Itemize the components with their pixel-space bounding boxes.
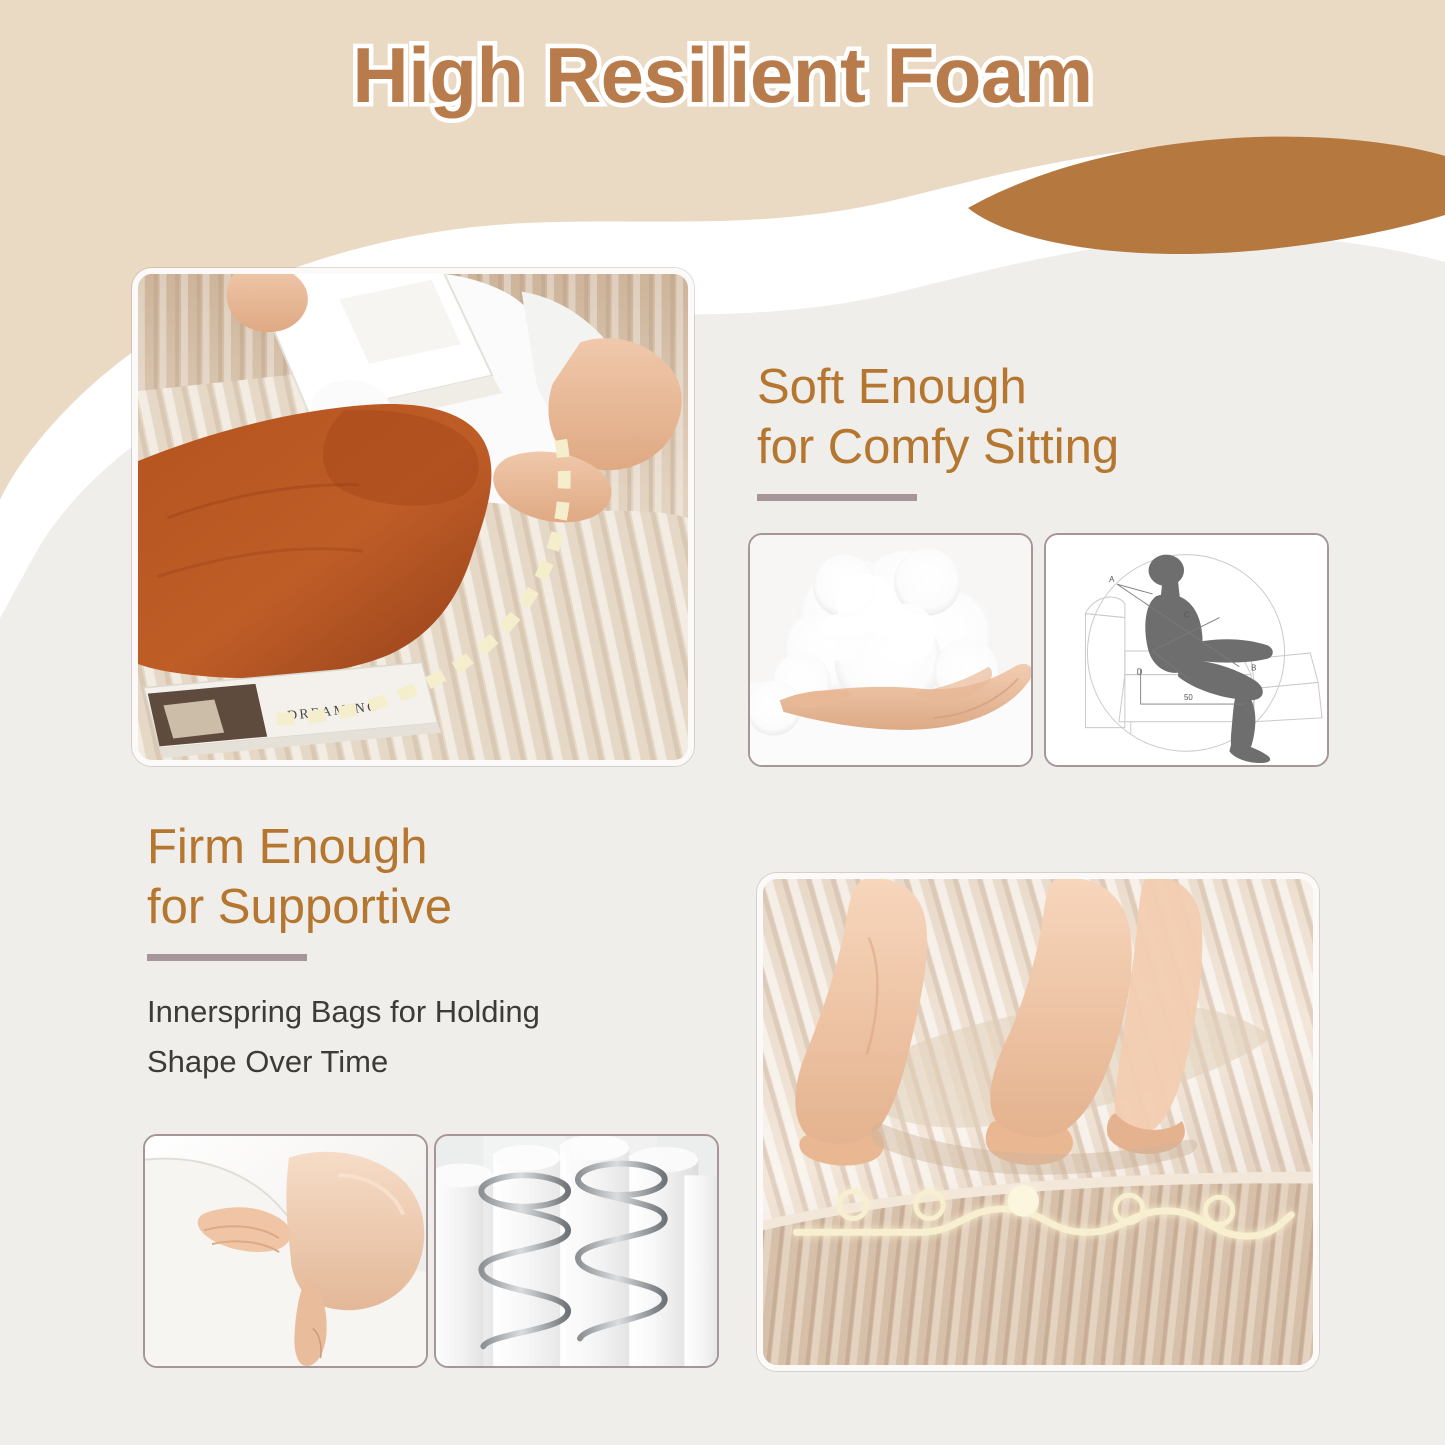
diagram-dimension-value: 50	[1184, 693, 1193, 702]
page-title: High Resilient Foam	[352, 30, 1092, 121]
firm-heading-line1: Firm Enough	[147, 818, 540, 878]
soft-heading-block: Soft Enough for Comfy Sitting	[757, 358, 1119, 501]
firm-heading-rule	[147, 954, 307, 961]
thumb-pocket-coil-springs	[434, 1134, 719, 1368]
firm-subtext-line1: Innerspring Bags for Holding	[147, 987, 540, 1037]
firm-subtext-block: Innerspring Bags for Holding Shape Over …	[147, 987, 540, 1087]
diagram-label-d: D	[1137, 668, 1143, 677]
firm-heading-line2: for Supportive	[147, 878, 540, 938]
thumb-fiberfill-in-hand	[748, 533, 1033, 767]
hero-image-firm-support	[757, 873, 1319, 1371]
firm-subtext-line2: Shape Over Time	[147, 1037, 540, 1087]
thumb-hand-pressing-foam	[143, 1134, 428, 1368]
diagram-label-a: A	[1109, 575, 1115, 584]
diagram-label-b: B	[1251, 664, 1256, 673]
title-band: High Resilient Foam	[0, 0, 1445, 150]
thumb-ergonomic-diagram: A B C D 50	[1044, 533, 1329, 767]
hero-image-soft-sitting: DREAMING	[132, 268, 694, 766]
firm-heading-block: Firm Enough for Supportive Innerspring B…	[147, 818, 540, 1087]
diagram-label-c: C	[1184, 611, 1190, 620]
soft-heading-line2: for Comfy Sitting	[757, 418, 1119, 478]
soft-heading-rule	[757, 494, 917, 501]
soft-heading-line1: Soft Enough	[757, 358, 1119, 418]
